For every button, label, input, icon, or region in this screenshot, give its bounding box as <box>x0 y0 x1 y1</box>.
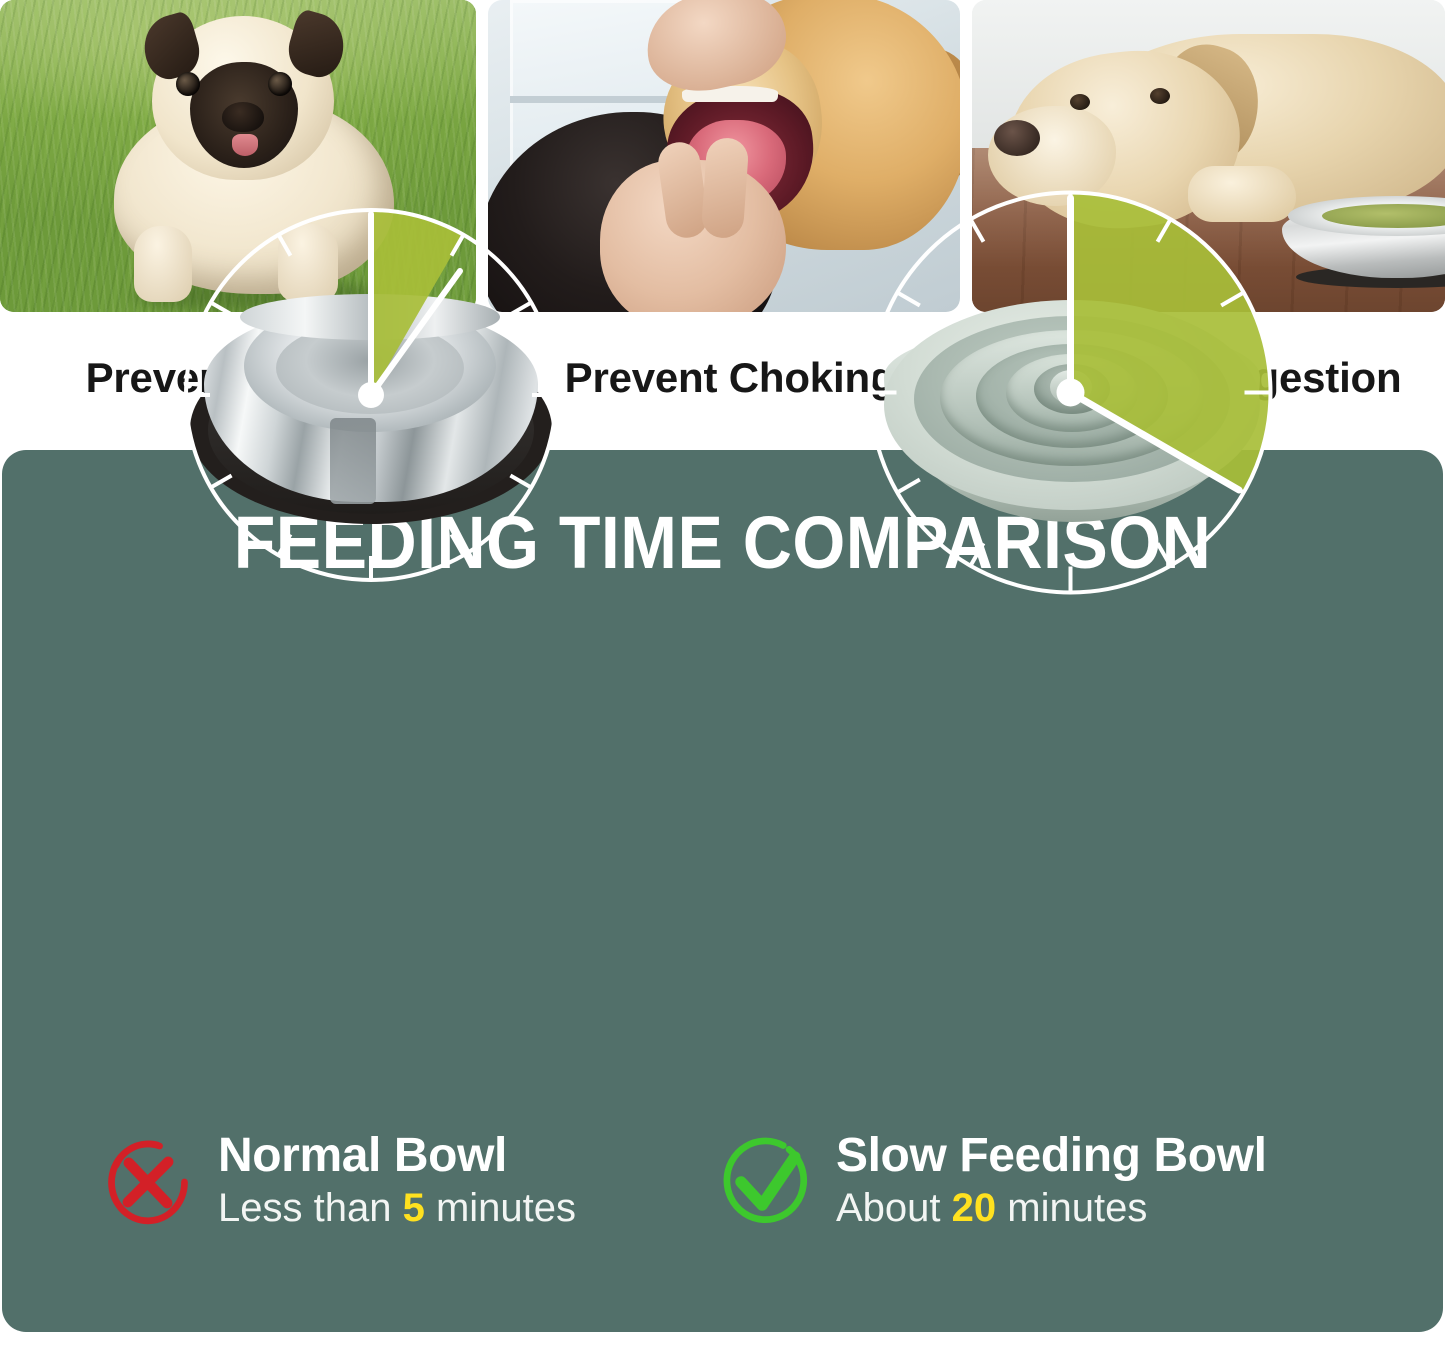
sub-prefix: Less than <box>218 1186 391 1230</box>
sub-prefix: About <box>836 1186 941 1230</box>
clock-slow-feeding-bowl <box>858 180 1283 605</box>
clock-center-hub <box>1057 379 1085 407</box>
legend-title: Normal Bowl <box>218 1132 576 1181</box>
legend-normal-bowl: Normal Bowl Less than 5 minutes <box>100 1132 576 1232</box>
sub-value: 20 <box>952 1186 997 1230</box>
wedge-5-minutes <box>371 210 464 395</box>
sub-suffix: minutes <box>1007 1186 1147 1230</box>
legend-slow-feeding-bowl: Slow Feeding Bowl About 20 minutes <box>718 1132 1267 1232</box>
clock-dial-5-minutes <box>166 190 576 600</box>
legend-text-block: Slow Feeding Bowl About 20 minutes <box>836 1132 1267 1232</box>
clock-comparison-row <box>0 0 1441 882</box>
clock-center-hub <box>358 382 384 408</box>
circled-check-icon <box>718 1134 814 1230</box>
legend-subtitle: About 20 minutes <box>836 1185 1267 1232</box>
circled-x-icon <box>100 1134 196 1230</box>
clock-normal-bowl <box>166 190 576 600</box>
legend-text-block: Normal Bowl Less than 5 minutes <box>218 1132 576 1232</box>
legend-title: Slow Feeding Bowl <box>836 1132 1267 1181</box>
legend-subtitle: Less than 5 minutes <box>218 1185 576 1232</box>
clock-dial-20-minutes <box>858 180 1283 605</box>
sub-value: 5 <box>403 1186 425 1230</box>
sub-suffix: minutes <box>436 1186 576 1230</box>
